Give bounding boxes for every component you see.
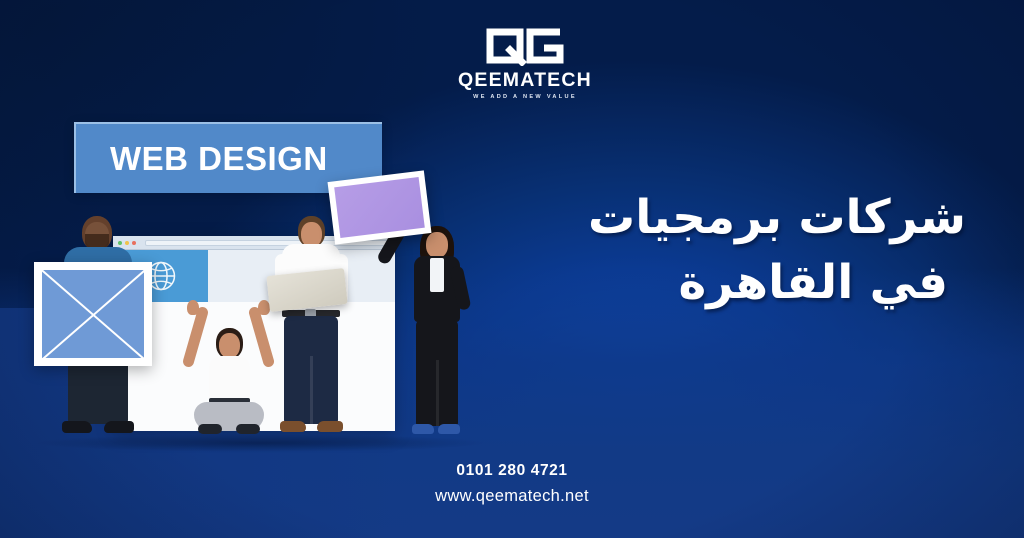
headline-line-1: شركات برمجيات xyxy=(446,186,966,251)
illustration-stage xyxy=(0,0,520,538)
face xyxy=(219,333,240,358)
face xyxy=(426,232,448,258)
web-design-banner: WEB DESIGN QEEMATECH WE ADD A NEW VALUE … xyxy=(0,0,1024,538)
contact-block: 0101 280 4721 www.qeematech.net xyxy=(0,462,1024,506)
shoe-right xyxy=(104,421,134,433)
torso-white-tshirt xyxy=(209,356,250,402)
image-placeholder-card xyxy=(34,262,152,366)
arm-left-raised xyxy=(182,306,210,369)
headline: شركات برمجيات في القاهرة xyxy=(446,186,966,316)
brand-logo: QEEMATECH WE ADD A NEW VALUE xyxy=(455,26,595,100)
logo-tagline: WE ADD A NEW VALUE xyxy=(455,95,595,101)
contact-website[interactable]: www.qeematech.net xyxy=(0,487,1024,506)
purple-screen-card xyxy=(328,170,432,244)
foot-right xyxy=(236,424,260,434)
leg-separation xyxy=(310,356,313,426)
shirt-white xyxy=(430,258,444,292)
shoe-right xyxy=(438,424,460,434)
leg-separation xyxy=(436,360,439,426)
shoe-left xyxy=(412,424,434,434)
hand-left xyxy=(187,300,199,315)
purple-screen-surface xyxy=(334,177,425,238)
headline-line-2: في القاهرة xyxy=(446,251,966,316)
shoe-left xyxy=(62,421,92,433)
contact-phone[interactable]: 0101 280 4721 xyxy=(0,462,1024,480)
person-woman-sitting xyxy=(186,300,272,440)
shoe-left xyxy=(280,421,306,432)
shoe-right xyxy=(317,421,343,432)
person-man-with-laptop xyxy=(272,216,350,442)
logo-wordmark: QEEMATECH xyxy=(455,71,595,91)
placeholder-cross-icon xyxy=(40,268,146,360)
qg-monogram-icon xyxy=(486,26,564,66)
foot-left xyxy=(198,424,222,434)
